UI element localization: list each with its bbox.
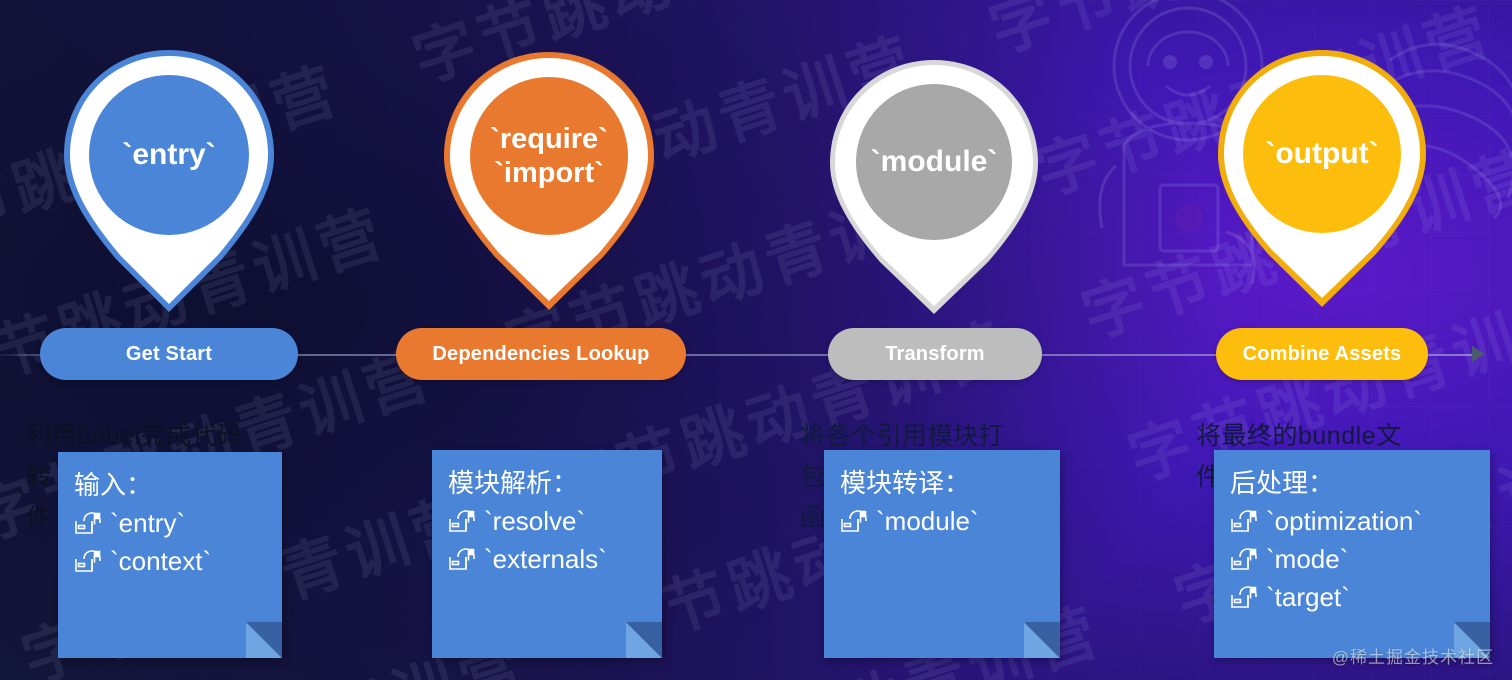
note-dependencies-item: `resolve`	[448, 502, 648, 540]
pin-entry-label-group: `entry`	[89, 75, 249, 235]
mailbox-icon	[448, 508, 476, 534]
pill-get-start[interactable]: Get Start	[40, 328, 298, 380]
timeline-arrow-icon	[1472, 346, 1485, 362]
juejin-watermark: @稀土掘金技术社区	[1332, 643, 1494, 668]
mailbox-icon	[1230, 584, 1258, 610]
pill-transform[interactable]: Transform	[828, 328, 1042, 380]
note-entry-item: `entry`	[74, 504, 268, 542]
pin-dependencies-label-group: `require` `import`	[466, 77, 632, 235]
note-dependencies-item: `externals`	[448, 540, 648, 578]
mailbox-icon	[74, 548, 102, 574]
pin-entry[interactable]: `entry`	[58, 44, 280, 312]
pin-dependencies-label-line2: `import`	[494, 156, 604, 190]
pin-dependencies-label-line1: `require`	[490, 122, 608, 156]
note-dependencies-title: 模块解析：	[448, 466, 648, 500]
pin-transform-label-group: `module`	[854, 84, 1014, 240]
mailbox-icon	[448, 546, 476, 572]
note-folded-corner	[1024, 622, 1060, 658]
note-transform[interactable]: 模块转译： `module`	[824, 450, 1060, 658]
diagram-canvas: 字节跳动青训营字节跳动青训营字节跳动青训营 字节跳动青训营字节跳动青训营字节跳动…	[0, 0, 1512, 680]
pill-dependencies-lookup-label: Dependencies Lookup	[432, 343, 649, 366]
mailbox-icon	[1230, 546, 1258, 572]
note-entry-item-label: `entry`	[110, 504, 185, 542]
pin-transform[interactable]: `module`	[826, 56, 1042, 314]
note-transform-item: `module`	[840, 502, 1046, 540]
pill-get-start-label: Get Start	[126, 343, 212, 366]
note-dependencies-item-label: `resolve`	[484, 502, 585, 540]
pin-transform-label: `module`	[871, 146, 998, 178]
pin-dependencies[interactable]: `require` `import`	[440, 48, 658, 310]
note-transform-title: 模块转译：	[840, 466, 1046, 500]
pin-entry-label: `entry`	[122, 139, 215, 171]
pin-output-label: `output`	[1265, 138, 1378, 170]
note-entry-item-label: `context`	[110, 542, 211, 580]
note-output-item: `optimization`	[1230, 502, 1476, 540]
note-output-title: 后处理：	[1230, 466, 1476, 500]
mailbox-icon	[840, 508, 868, 534]
note-entry[interactable]: 输入： `entry` `context`	[58, 452, 282, 658]
mailbox-icon	[1230, 508, 1258, 534]
note-folded-corner	[246, 622, 282, 658]
note-output-item-label: `mode`	[1266, 540, 1348, 578]
note-entry-item: `context`	[74, 542, 268, 580]
note-output-item-label: `optimization`	[1266, 502, 1422, 540]
pin-output[interactable]: `output`	[1214, 46, 1430, 308]
note-output-item: `target`	[1230, 578, 1476, 616]
note-dependencies[interactable]: 模块解析： `resolve` `externals`	[432, 450, 662, 658]
note-output-item-label: `target`	[1266, 578, 1350, 616]
note-dependencies-item-label: `externals`	[484, 540, 607, 578]
note-transform-item-label: `module`	[876, 502, 979, 540]
pill-transform-label: Transform	[885, 343, 985, 366]
note-output-item: `mode`	[1230, 540, 1476, 578]
pill-dependencies-lookup[interactable]: Dependencies Lookup	[396, 328, 686, 380]
note-entry-title: 输入：	[74, 468, 268, 502]
mailbox-icon	[74, 510, 102, 536]
pill-combine-assets-label: Combine Assets	[1243, 343, 1402, 366]
pin-output-label-group: `output`	[1242, 76, 1402, 232]
note-folded-corner	[626, 622, 662, 658]
pill-combine-assets[interactable]: Combine Assets	[1216, 328, 1428, 380]
note-output[interactable]: 后处理： `optimization` `mode`	[1214, 450, 1490, 658]
